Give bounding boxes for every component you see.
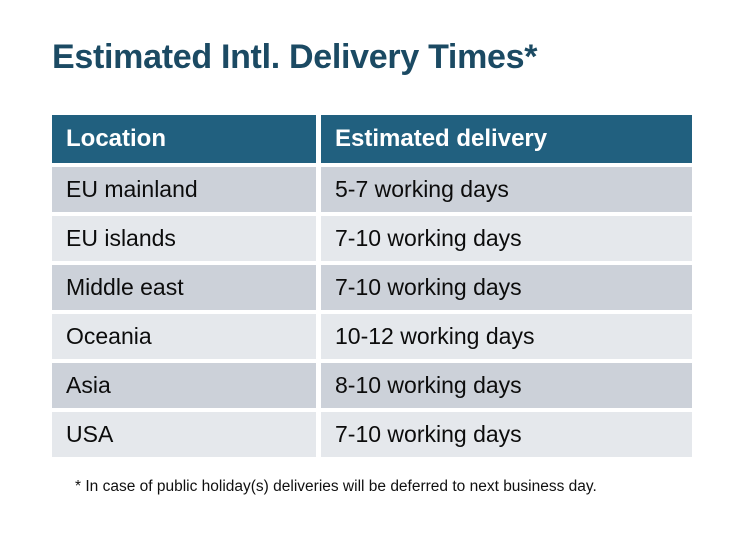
delivery-times-table: Location Estimated delivery EU mainland … xyxy=(52,115,692,457)
cell-location: USA xyxy=(52,412,316,457)
cell-estimated-delivery: 10-12 working days xyxy=(321,314,692,359)
table-row: Oceania 10-12 working days xyxy=(52,314,692,359)
delivery-times-page: Estimated Intl. Delivery Times* Location… xyxy=(0,0,745,536)
cell-estimated-delivery: 7-10 working days xyxy=(321,216,692,261)
cell-estimated-delivery: 7-10 working days xyxy=(321,412,692,457)
table-row: Middle east 7-10 working days xyxy=(52,265,692,310)
page-title: Estimated Intl. Delivery Times* xyxy=(52,38,537,77)
column-header-estimated-delivery: Estimated delivery xyxy=(321,115,692,163)
cell-estimated-delivery: 5-7 working days xyxy=(321,167,692,212)
cell-estimated-delivery: 8-10 working days xyxy=(321,363,692,408)
cell-location: Oceania xyxy=(52,314,316,359)
column-header-location: Location xyxy=(52,115,316,163)
cell-location: EU islands xyxy=(52,216,316,261)
table-row: EU islands 7-10 working days xyxy=(52,216,692,261)
table-row: USA 7-10 working days xyxy=(52,412,692,457)
table-row: EU mainland 5-7 working days xyxy=(52,167,692,212)
footnote: * In case of public holiday(s) deliverie… xyxy=(75,478,597,496)
cell-location: Asia xyxy=(52,363,316,408)
cell-location: EU mainland xyxy=(52,167,316,212)
table-header-row: Location Estimated delivery xyxy=(52,115,692,163)
cell-location: Middle east xyxy=(52,265,316,310)
cell-estimated-delivery: 7-10 working days xyxy=(321,265,692,310)
table-row: Asia 8-10 working days xyxy=(52,363,692,408)
